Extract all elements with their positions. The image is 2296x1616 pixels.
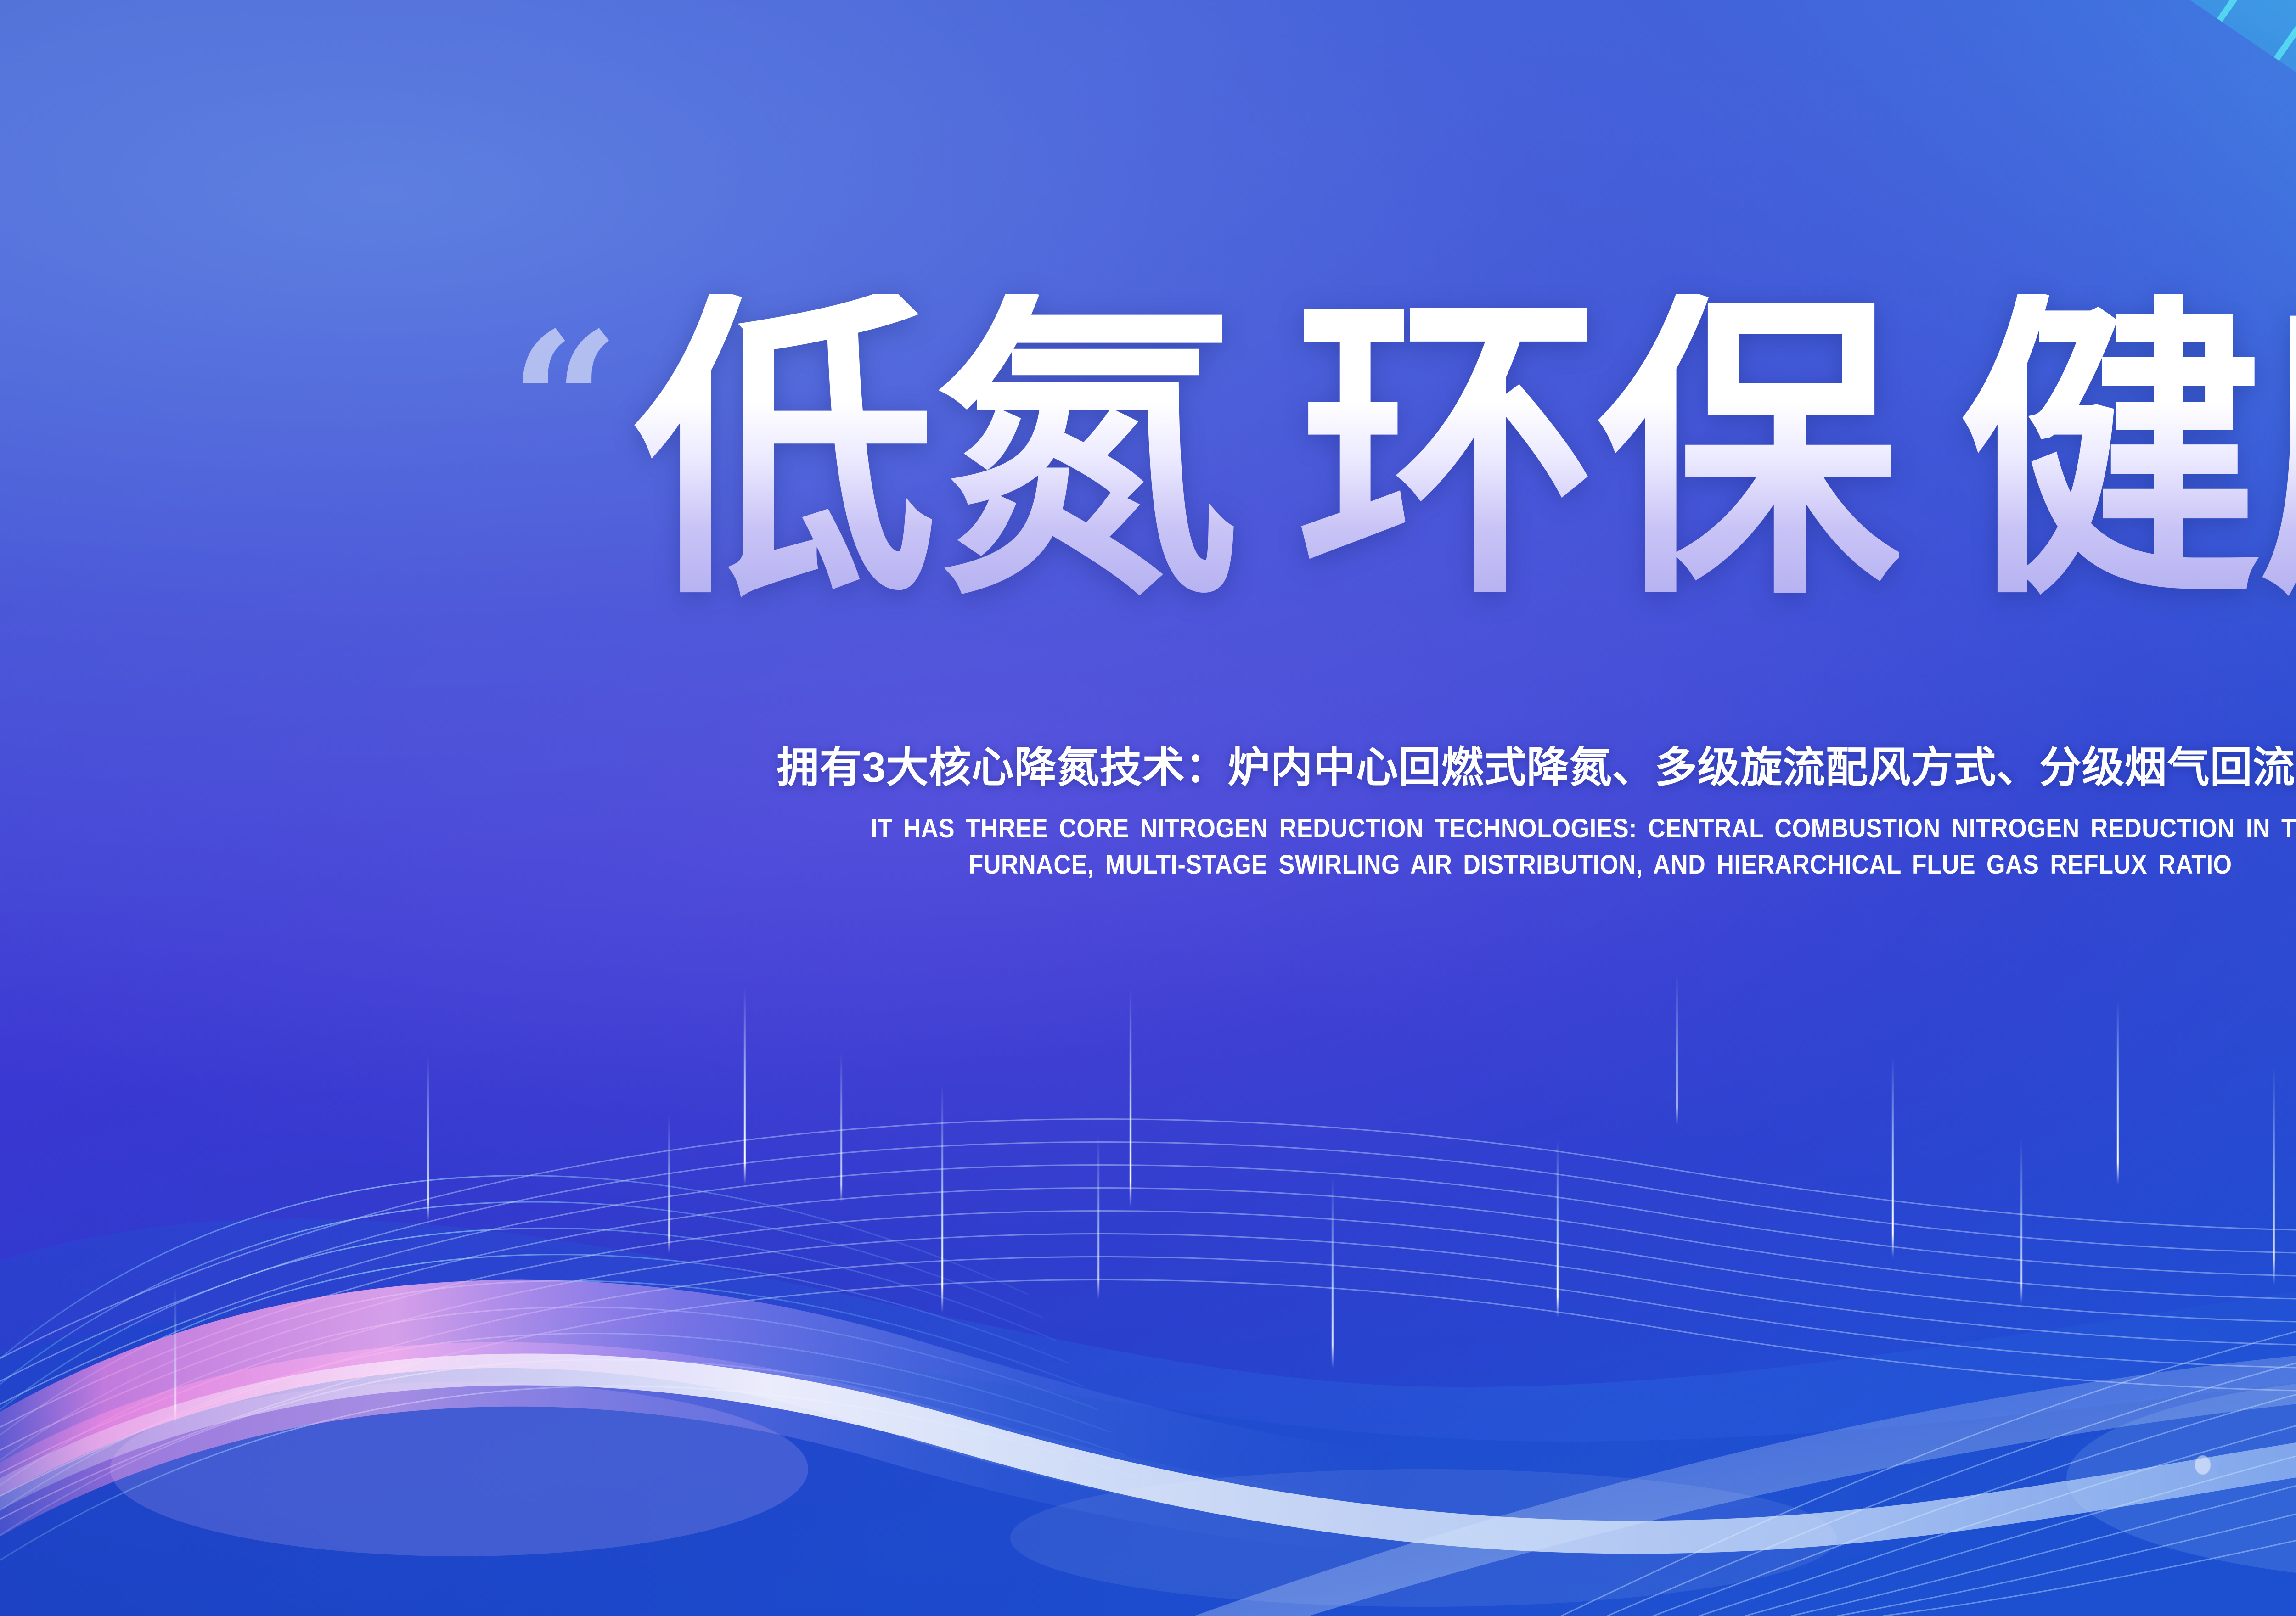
headline-word-health: 健康 xyxy=(1958,294,2296,609)
quote-open-icon: “ xyxy=(509,308,620,500)
light-streak xyxy=(2117,1001,2119,1184)
light-streak xyxy=(2020,1139,2022,1304)
diagonal-stripe-wedge xyxy=(2190,0,2296,689)
light-streak xyxy=(1130,987,1131,1207)
glow-pink xyxy=(110,1382,808,1556)
headline-row: “ 低氮 环保 健康 ” xyxy=(0,303,2296,600)
light-streak xyxy=(1097,1134,1099,1299)
light-streak xyxy=(1557,1139,1559,1318)
subtitle-english-line-2: FURNACE, MULTI-STAGE SWIRLING AIR DISTRI… xyxy=(493,847,2296,883)
wedge-fade-overlay xyxy=(2190,0,2296,689)
subtitle-block: 拥有3大核心降氮技术：炉内中心回燃式降氮、多级旋流配风方式、分级烟气回流配比。 … xyxy=(0,741,2296,883)
light-streak xyxy=(1332,1175,1334,1368)
light-streak xyxy=(174,1285,176,1423)
headline-word-environmental: 环保 xyxy=(1296,294,1899,609)
wave-decoration xyxy=(0,927,2296,1616)
light-streak xyxy=(668,1116,670,1253)
subtitle-english-line-1: IT HAS THREE CORE NITROGEN REDUCTION TEC… xyxy=(493,811,2296,847)
headline-word-low-nitrogen: 低氮 xyxy=(634,294,1237,609)
light-streak xyxy=(427,1056,429,1221)
light-streak xyxy=(1892,1056,1894,1258)
headline: “ 低氮 环保 健康 ” xyxy=(509,303,2296,600)
cyan-stripe-pattern xyxy=(2190,0,2296,689)
light-streak xyxy=(941,1083,943,1313)
glow-center xyxy=(1010,1469,1837,1607)
light-streak xyxy=(840,1051,842,1203)
banner-canvas: 科技-共赢 SCIENCE AND TECHNOLOGY AND WIN-WIN… xyxy=(0,0,2296,1616)
subtitle-english: IT HAS THREE CORE NITROGEN REDUCTION TEC… xyxy=(493,811,2296,883)
light-streak xyxy=(2273,1065,2275,1285)
subtitle-chinese: 拥有3大核心降氮技术：炉内中心回燃式降氮、多级旋流配风方式、分级烟气回流配比。 xyxy=(0,741,2296,794)
particle-dot xyxy=(2195,1455,2211,1475)
light-streak xyxy=(1676,973,1678,1125)
light-streak xyxy=(744,987,746,1184)
wave-svg xyxy=(0,927,2296,1616)
